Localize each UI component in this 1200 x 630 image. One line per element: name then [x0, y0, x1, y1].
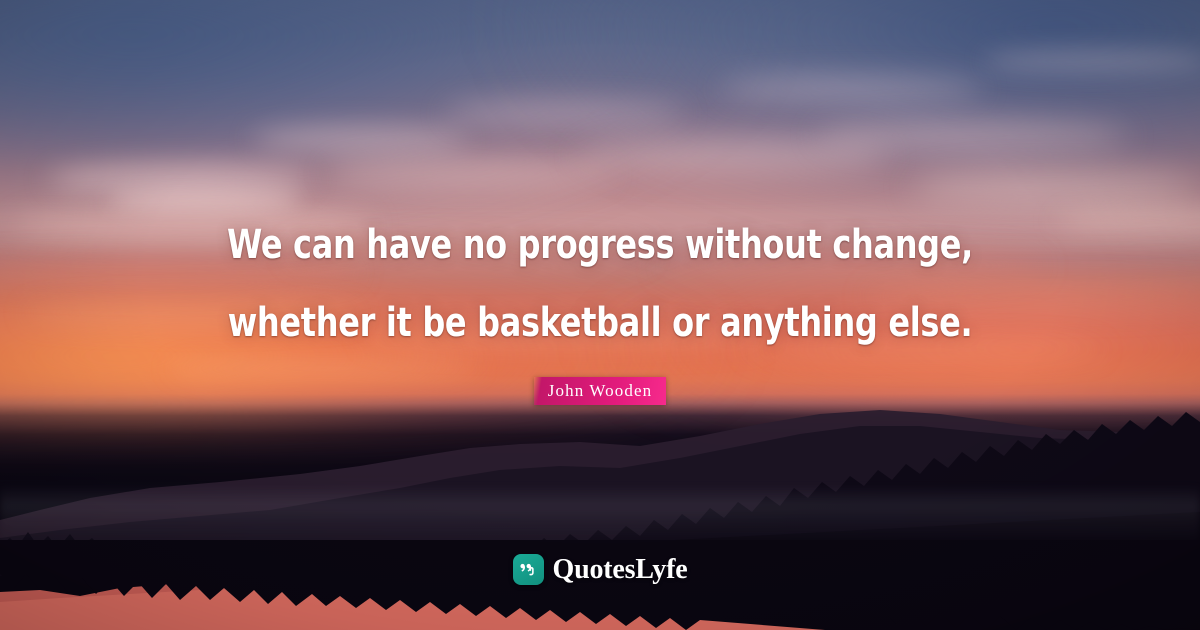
quote-marks-icon	[513, 554, 544, 585]
quote-card: We can have no progress without change, …	[0, 0, 1200, 630]
site-branding[interactable]: QuotesLyfe	[0, 554, 1200, 585]
quote-line-1: We can have no progress without change,	[208, 206, 992, 284]
author-attribution: John Wooden	[0, 377, 1200, 405]
card-content: We can have no progress without change, …	[0, 0, 1200, 630]
site-name: QuotesLyfe	[553, 556, 688, 584]
quote-line-2: whether it be basketball or anything els…	[208, 284, 992, 362]
author-name-badge: John Wooden	[534, 377, 666, 405]
quote-text-block: We can have no progress without change, …	[0, 206, 1200, 362]
